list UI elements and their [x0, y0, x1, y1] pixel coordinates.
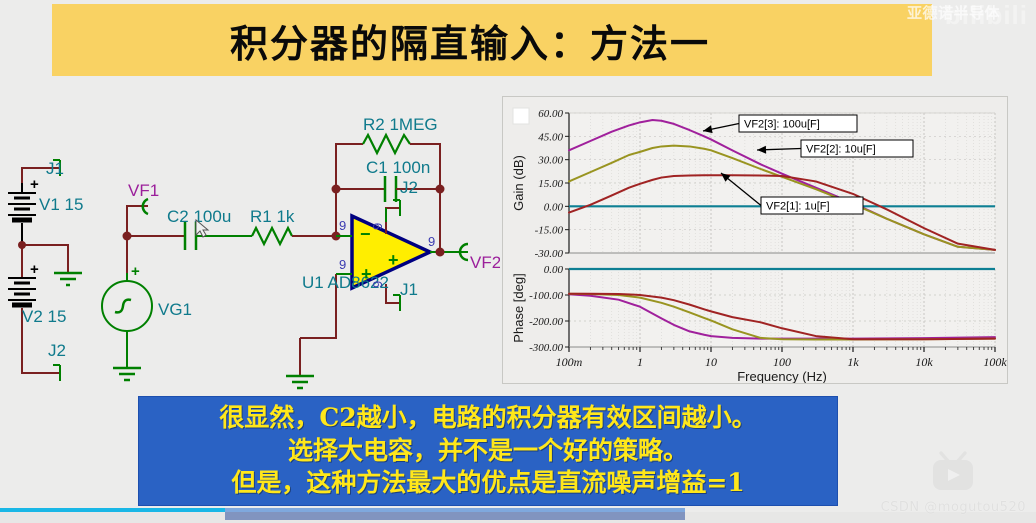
label-j2-bottom: J2: [48, 341, 66, 360]
svg-text:30.00: 30.00: [537, 155, 563, 167]
ground-symbol-supply: [54, 273, 82, 285]
schematic-svg: J1 + V1 15 + V2 15 J2 VF1 + VG1 C2 100u …: [0, 88, 500, 398]
progress-bar-filled[interactable]: [0, 508, 225, 512]
label-src-plus: +: [131, 263, 140, 280]
source-vg1: [102, 236, 152, 380]
label-c1: C1 100n: [366, 158, 430, 177]
ground-symbol-input: [286, 338, 314, 388]
pin-number-output: 9: [428, 234, 435, 249]
label-bat-plus-2: +: [30, 261, 39, 278]
axis-tick-x: 10: [705, 355, 717, 369]
annotation-label: VF2[1]: 1u[F]: [766, 201, 830, 213]
svg-text:-200.00: -200.00: [529, 316, 563, 328]
title-banner: 积分器的隔直输入：方法一: [52, 4, 932, 76]
axis-tick-x: 100: [773, 355, 791, 369]
svg-text:45.00: 45.00: [538, 131, 563, 143]
resistor-r1: [245, 228, 336, 244]
axis-tick-x: 10k: [915, 355, 933, 369]
axis-tick-x: 100k: [983, 355, 1007, 369]
opamp-inverting-sign: −: [360, 224, 371, 244]
svg-text:60.00: 60.00: [538, 108, 563, 120]
label-vf2: VF2: [470, 253, 500, 272]
label-v1: V1 15: [39, 195, 83, 214]
label-j1-top: J1: [46, 159, 64, 178]
axis-tick-x: 1k: [847, 355, 859, 369]
probe-vf1: [127, 199, 148, 236]
legend-color-swatch[interactable]: [513, 108, 529, 124]
opamp-plus-sign-inner: +: [388, 250, 399, 270]
svg-text:-300.00: -300.00: [529, 342, 563, 354]
axis-tick-x: 1: [637, 355, 643, 369]
label-opamp-j2: J2: [400, 178, 418, 197]
caption-line-2: 选择大电容，并不是一个好的策略。: [288, 436, 688, 467]
label-opamp-j1: J1: [400, 280, 418, 299]
svg-text:0.00: 0.00: [544, 264, 564, 276]
axis-label-x: Frequency (Hz): [737, 369, 827, 383]
capacitor-c1: [336, 176, 440, 202]
axis-label-y: Gain (dB): [511, 155, 526, 211]
bilibili-play-icon: [927, 449, 979, 493]
circuit-schematic: J1 + V1 15 + V2 15 J2 VF1 + VG1 C2 100u …: [0, 88, 500, 398]
label-vf1: VF1: [128, 181, 159, 200]
pin-number-vpos: 9: [370, 223, 385, 230]
bode-plot-panel: 60.0045.0030.0015.000.00-15.00-30.00Gain…: [502, 96, 1008, 384]
node-dot: [332, 185, 341, 194]
csdn-watermark: CSDN @mogutou520: [881, 449, 1026, 515]
caption-box: 很显然，C2越小，电路的积分器有效区间越小。 选择大电容，并不是一个好的策略。 …: [138, 396, 838, 506]
annotation-label: VF2[3]: 100u[F]: [744, 119, 820, 131]
bottom-progress-track[interactable]: [225, 512, 685, 520]
slide-root: 积分器的隔直输入：方法一 亚德诺半导体 bilibili: [0, 0, 1036, 523]
label-v2: V2 15: [22, 307, 66, 326]
annotation-label: VF2[2]: 10u[F]: [806, 144, 876, 156]
svg-text:0.00: 0.00: [544, 201, 564, 213]
svg-text:-100.00: -100.00: [529, 290, 563, 302]
pin-number-vneg: 9: [370, 281, 385, 288]
node-dot: [436, 248, 445, 257]
capacitor-c2: [127, 222, 245, 250]
page-title: 积分器的隔直输入：方法一: [230, 13, 710, 68]
label-vg1: VG1: [158, 300, 192, 319]
svg-text:15.00: 15.00: [538, 178, 563, 190]
opamp-u1: [300, 189, 468, 338]
caption-line-1: 很显然，C2越小，电路的积分器有效区间越小。: [219, 403, 756, 434]
csdn-username: CSDN @mogutou520: [881, 500, 1026, 515]
label-r2: R2 1MEG: [363, 115, 438, 134]
label-bat-plus-1: +: [30, 176, 39, 193]
caption-line-3: 但是，这种方法最大的优点是直流噪声增益=1: [231, 468, 744, 499]
axis-tick-x: 100m: [556, 355, 583, 369]
svg-text:-15.00: -15.00: [535, 225, 564, 237]
progress-bar-buffer[interactable]: [225, 508, 685, 512]
axis-label-y: Phase [deg]: [511, 273, 526, 342]
svg-text:-30.00: -30.00: [535, 248, 564, 260]
label-r1: R1 1k: [250, 207, 295, 226]
pin-number-noninverting: 9: [339, 257, 346, 272]
brand-watermark-faint: bilibili: [945, 0, 1028, 31]
bode-plot-svg: 60.0045.0030.0015.000.00-15.00-30.00Gain…: [503, 97, 1007, 383]
pin-number-inverting: 9: [339, 218, 346, 233]
